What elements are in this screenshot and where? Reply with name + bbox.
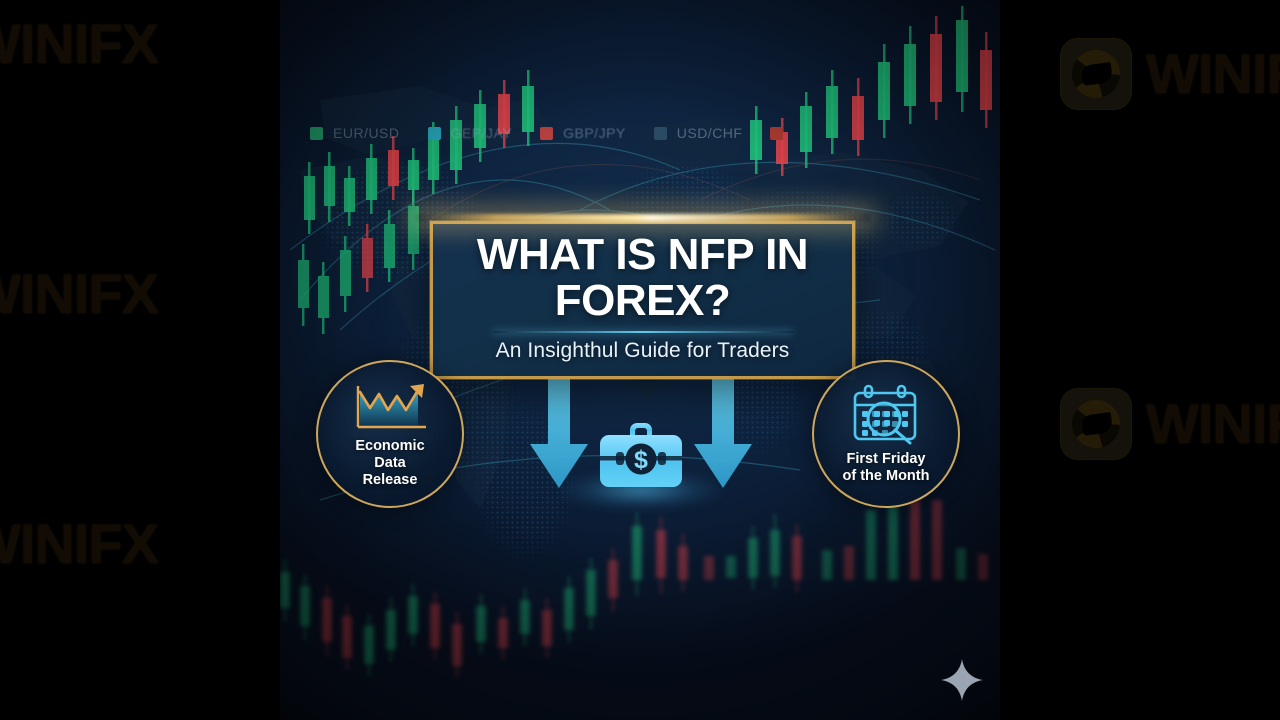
badge-caption-line: Data <box>374 455 405 472</box>
title-divider <box>493 331 793 333</box>
watermark-brand-text: WINIFX <box>1146 396 1280 452</box>
page-title: WHAT IS NFP IN FOREX? <box>433 232 852 324</box>
down-arrow-left-icon <box>528 378 590 490</box>
poster-canvas: WINIFX WINIFX WINIFX WINIFX WINIFX <box>0 0 1280 720</box>
watermark-band-right: WINIFX WINIFX <box>1000 0 1280 720</box>
watermark-brand-text: WINIFX <box>1146 46 1280 102</box>
down-arrow-right-icon <box>692 378 754 490</box>
watermark-tile: WINIFX <box>0 508 158 580</box>
watermark-brand-text: WINIFX <box>0 16 158 72</box>
page-subtitle: An Insighthul Guide for Traders <box>496 339 790 363</box>
badge-caption-line: Release <box>363 472 418 489</box>
ticker-swatch <box>310 127 323 140</box>
watermark-tile: WINIFX <box>0 258 158 330</box>
ticker-swatch <box>654 127 667 140</box>
eagle-shutter-logo-icon <box>1060 38 1132 110</box>
ticker-swatch <box>540 127 553 140</box>
watermark-brand-text: WINIFX <box>0 516 158 572</box>
watermark-brand-text: WINIFX <box>0 266 158 322</box>
calendar-magnifier-icon <box>848 383 924 447</box>
title-panel: WHAT IS NFP IN FOREX? An Insighthul Guid… <box>430 221 855 379</box>
badge-caption-line: First Friday <box>847 451 926 468</box>
eagle-shutter-logo-icon <box>1060 388 1132 460</box>
ticker-swatch <box>428 127 441 140</box>
ticker-label: EUR/USD <box>333 125 400 141</box>
rising-chart-icon <box>348 380 432 434</box>
badge-economic-data-release: Economic Data Release <box>316 360 464 508</box>
badge-first-friday: First Friday of the Month <box>812 360 960 508</box>
ticker-item-gbpjpy: GBP/JPY <box>540 125 626 141</box>
briefcase-dollar-icon: $ <box>596 418 686 490</box>
ticker-item-usdchf: USD/CHF <box>654 125 784 141</box>
poster-artwork: EUR/USD GEP/JAY GBP/JPY USD/CHF WHAT IS … <box>280 0 1000 720</box>
ticker-label: USD/CHF <box>677 125 743 141</box>
watermark-tile: WINIFX <box>0 8 158 80</box>
bottom-candlestick-chart <box>280 500 1000 720</box>
badge-caption-line: Economic <box>355 438 424 455</box>
watermark-tile: WINIFX <box>1060 388 1280 460</box>
dollar-symbol: $ <box>634 446 648 474</box>
watermark-band-left: WINIFX WINIFX WINIFX <box>0 0 280 720</box>
four-point-star-icon <box>940 658 984 702</box>
ticker-swatch <box>770 127 783 140</box>
ticker-item-eurusd: EUR/USD <box>310 125 400 141</box>
ticker-label: GEP/JAY <box>451 125 513 141</box>
ticker-item-gepjay: GEP/JAY <box>428 125 513 141</box>
ticker-label: GBP/JPY <box>563 125 626 141</box>
watermark-tile: WINIFX <box>1060 38 1280 110</box>
currency-ticker: EUR/USD GEP/JAY GBP/JPY USD/CHF <box>310 122 930 144</box>
badge-caption-line: of the Month <box>843 468 930 485</box>
